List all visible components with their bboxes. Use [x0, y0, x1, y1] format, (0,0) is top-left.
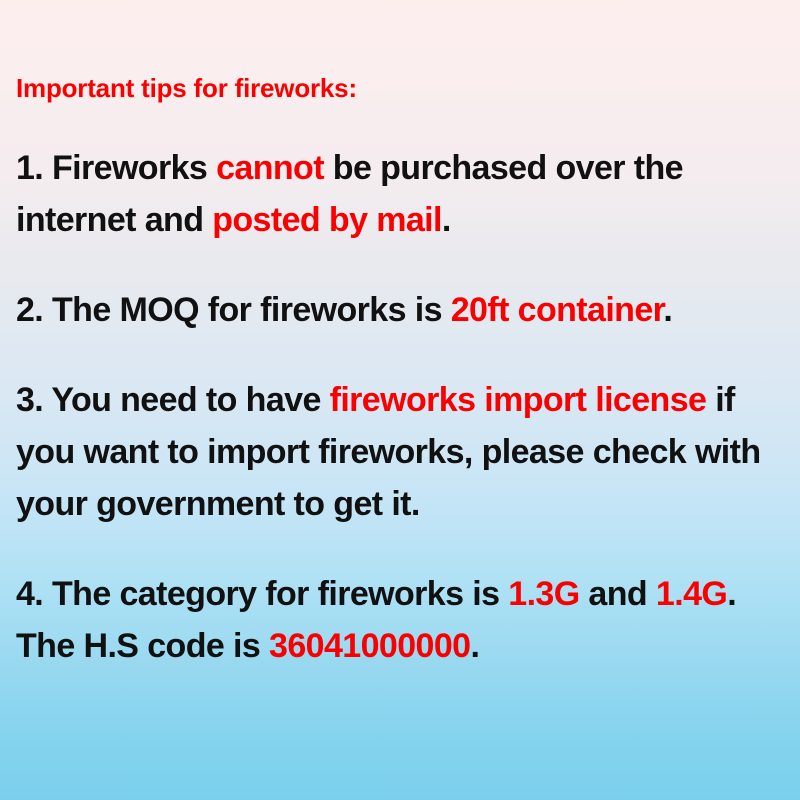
- highlighted-phrase: fireworks import license: [330, 381, 707, 419]
- tip-item-4: 4. The category for fireworks is 1.3G an…: [16, 530, 791, 672]
- highlighted-phrase: 1.3G: [508, 575, 579, 613]
- body-text-run: 2. The MOQ for fireworks is: [16, 291, 451, 329]
- page-title: Important tips for fireworks:: [16, 0, 791, 104]
- body-text-run: and: [580, 575, 656, 613]
- highlighted-phrase: 20ft container: [451, 291, 664, 329]
- tip-item-3: 3. You need to have fireworks import lic…: [16, 336, 791, 530]
- highlighted-phrase: cannot: [216, 149, 324, 187]
- body-text-run: 1. Fireworks: [16, 149, 216, 187]
- body-text-run: 4. The category for fireworks is: [16, 575, 508, 613]
- fireworks-tips-poster: Important tips for fireworks: 1. Firewor…: [0, 0, 800, 800]
- body-text-run: .: [470, 627, 479, 665]
- body-text-run: 3. You need to have: [16, 381, 330, 419]
- tip-item-2: 2. The MOQ for fireworks is 20ft contain…: [16, 246, 791, 336]
- body-text-run: .: [663, 291, 672, 329]
- highlighted-phrase: 1.4G: [656, 575, 727, 613]
- tip-item-1: 1. Fireworks cannot be purchased over th…: [16, 104, 791, 246]
- text-content-block: Important tips for fireworks: 1. Firewor…: [16, 0, 791, 672]
- highlighted-phrase: posted by mail: [212, 201, 442, 239]
- body-text-run: .: [442, 201, 451, 239]
- highlighted-phrase: 36041000000: [269, 627, 470, 665]
